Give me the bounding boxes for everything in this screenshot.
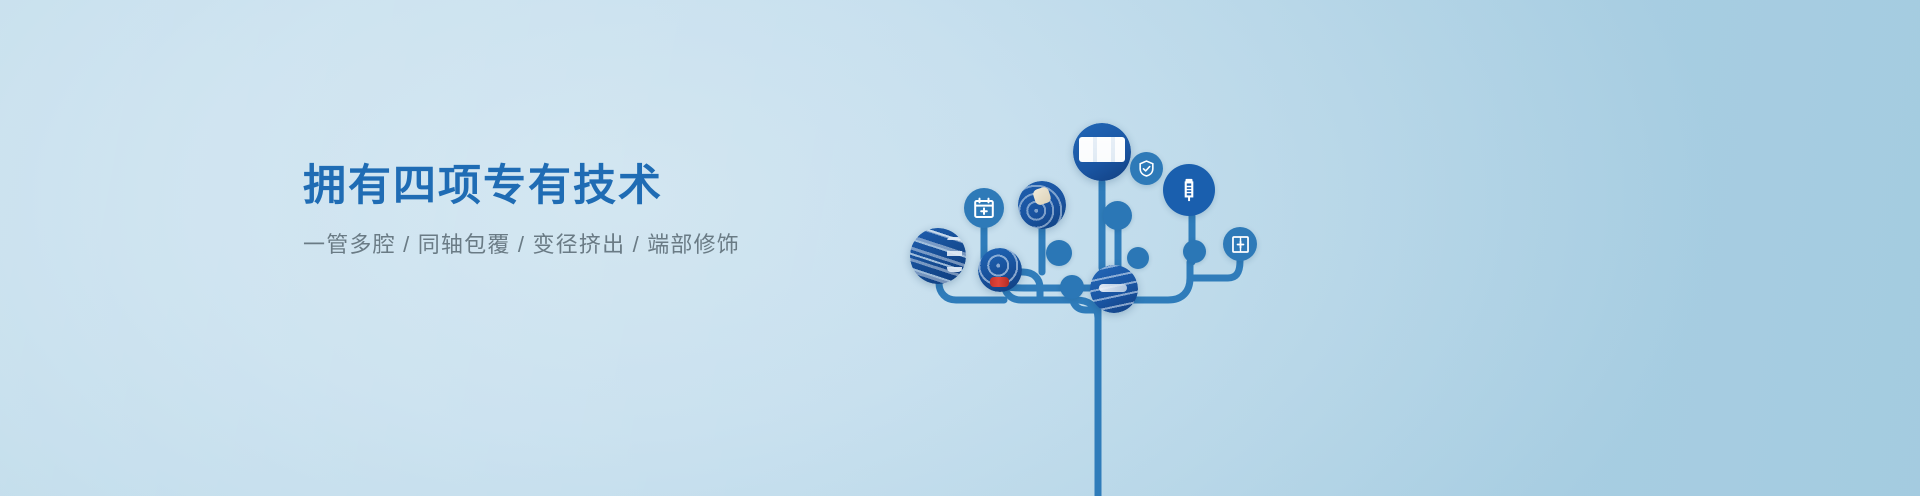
package-photo: [1073, 123, 1131, 181]
node-icon-syringe[interactable]: [1163, 164, 1215, 216]
node-dot-upper-mid[interactable]: [1103, 201, 1132, 230]
technology-tree-graphic: [880, 0, 1300, 496]
node-icon-shield[interactable]: [1130, 152, 1163, 185]
node-icon-calendar[interactable]: [964, 188, 1004, 228]
syringe-icon: [1175, 176, 1203, 204]
node-dot-mid-left[interactable]: [1046, 240, 1072, 266]
banner-headline: 拥有四项专有技术: [303, 160, 863, 212]
node-photo-package[interactable]: [1073, 123, 1131, 181]
coil-photo: [978, 248, 1022, 292]
node-photo-tubes[interactable]: [910, 228, 966, 284]
branch-grid: [1190, 261, 1240, 278]
bagset-photo: [1018, 181, 1066, 229]
calendar-plus-icon: [972, 196, 996, 220]
node-icon-grid[interactable]: [1223, 227, 1257, 261]
node-dot-lower-left[interactable]: [1060, 275, 1084, 299]
tubes-photo: [910, 228, 966, 284]
catheter-photo: [1090, 265, 1138, 313]
shield-check-icon: [1137, 159, 1156, 178]
grid-plus-icon: [1230, 234, 1251, 255]
node-dot-lower-right[interactable]: [1127, 247, 1149, 269]
node-photo-bagset[interactable]: [1018, 181, 1066, 229]
banner-subheadline: 一管多腔 / 同轴包覆 / 变径挤出 / 端部修饰: [303, 230, 863, 260]
hero-banner: 拥有四项专有技术 一管多腔 / 同轴包覆 / 变径挤出 / 端部修饰: [0, 0, 1920, 496]
banner-text-block: 拥有四项专有技术 一管多腔 / 同轴包覆 / 变径挤出 / 端部修饰: [303, 160, 863, 260]
node-photo-catheter[interactable]: [1090, 265, 1138, 313]
node-photo-coil[interactable]: [978, 248, 1022, 292]
node-dot-mid-right[interactable]: [1183, 240, 1206, 263]
